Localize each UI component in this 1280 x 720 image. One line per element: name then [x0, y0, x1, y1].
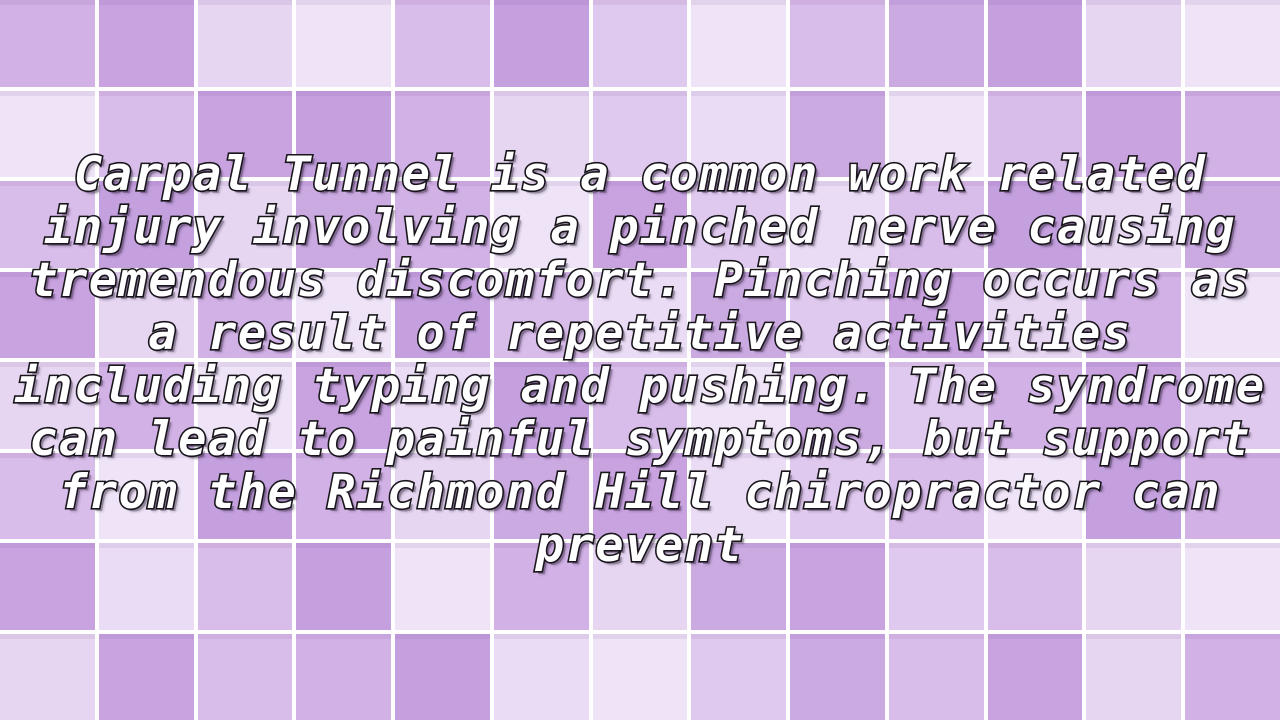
mosaic-tile — [1086, 0, 1181, 87]
mosaic-tile — [790, 634, 885, 720]
text-line: injury involving a pinched nerve causing — [6, 201, 1274, 254]
mosaic-tile — [99, 634, 194, 720]
mosaic-tile — [889, 0, 984, 87]
text-line: from the Richmond Hill chiropractor can — [6, 466, 1274, 519]
mosaic-tile — [691, 634, 786, 720]
mosaic-tile — [593, 0, 688, 87]
text-line: including typing and pushing. The syndro… — [6, 360, 1274, 413]
mosaic-tile — [0, 634, 95, 720]
mosaic-tile — [395, 0, 490, 87]
mosaic-tile — [889, 634, 984, 720]
mosaic-tile — [988, 634, 1083, 720]
text-line: can lead to painful symptoms, but suppor… — [6, 413, 1274, 466]
mosaic-tile — [296, 634, 391, 720]
mosaic-tile — [1185, 0, 1280, 87]
mosaic-tile — [691, 0, 786, 87]
mosaic-tile — [395, 634, 490, 720]
text-line: prevent — [6, 519, 1274, 572]
mosaic-tile — [494, 0, 589, 87]
mosaic-tile — [1185, 634, 1280, 720]
mosaic-tile — [0, 0, 95, 87]
graphic-canvas: Carpal Tunnel is a common work related i… — [0, 0, 1280, 720]
text-line: Carpal Tunnel is a common work related — [6, 148, 1274, 201]
mosaic-tile — [593, 634, 688, 720]
mosaic-tile — [99, 0, 194, 87]
mosaic-tile — [494, 634, 589, 720]
text-line: a result of repetitive activities — [6, 307, 1274, 360]
mosaic-tile — [1086, 634, 1181, 720]
mosaic-tile — [198, 0, 293, 87]
mosaic-tile — [790, 0, 885, 87]
mosaic-tile — [296, 0, 391, 87]
mosaic-tile — [988, 0, 1083, 87]
text-line: tremendous discomfort. Pinching occurs a… — [6, 254, 1274, 307]
headline-text-block: Carpal Tunnel is a common work related i… — [0, 148, 1280, 572]
mosaic-tile — [198, 634, 293, 720]
